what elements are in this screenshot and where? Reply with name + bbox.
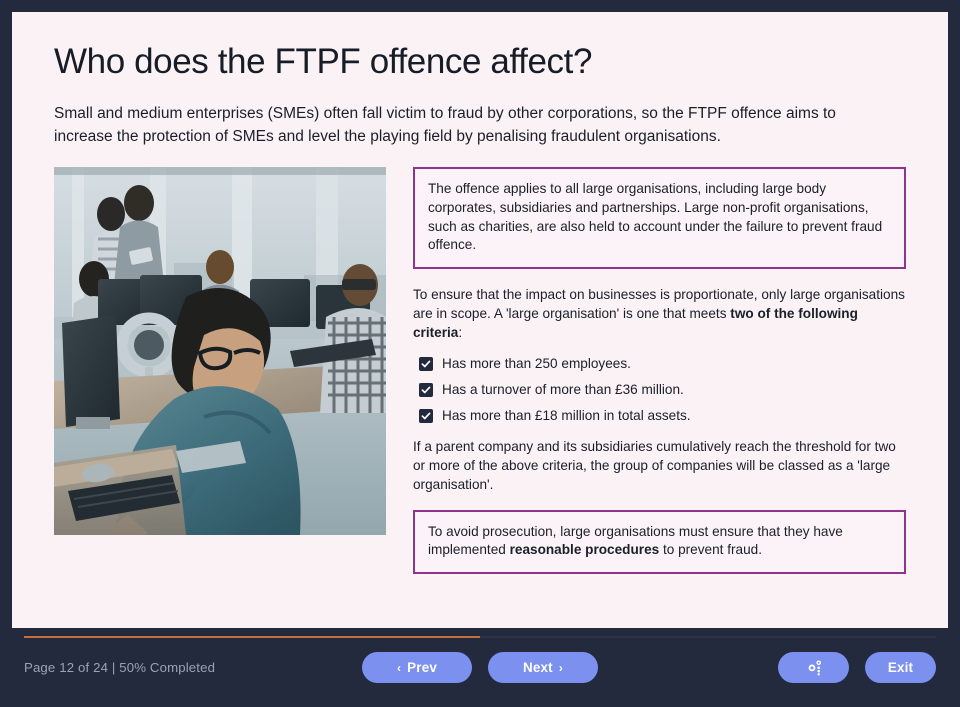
list-item: Has a turnover of more than £36 million. <box>419 381 906 399</box>
list-item-label: Has a turnover of more than £36 million. <box>442 381 684 399</box>
page-status-text: Page 12 of 24 | 50% Completed <box>24 660 215 675</box>
content-column: The offence applies to all large organis… <box>413 167 906 574</box>
prev-button-label: Prev <box>407 660 437 675</box>
next-button-label: Next <box>523 660 553 675</box>
list-item-label: Has more than 250 employees. <box>442 355 631 373</box>
media-column <box>54 167 386 535</box>
slide-panel: Who does the FTPF offence affect? Small … <box>12 12 948 628</box>
checkbox-checked-icon <box>419 357 433 371</box>
intro-paragraph: Small and medium enterprises (SMEs) ofte… <box>54 103 874 148</box>
cogs-icon <box>804 658 823 677</box>
callout-prevention-tail: to prevent fraud. <box>659 542 762 557</box>
slide-body: The offence applies to all large organis… <box>54 167 906 574</box>
nav-center-group: ‹ Prev Next › <box>362 652 598 683</box>
exit-button[interactable]: Exit <box>865 652 936 683</box>
page-title: Who does the FTPF offence affect? <box>54 42 906 81</box>
exit-button-label: Exit <box>888 660 913 675</box>
list-item: Has more than 250 employees. <box>419 355 906 373</box>
criteria-checklist: Has more than 250 employees. Has a turno… <box>419 355 906 424</box>
chevron-left-icon: ‹ <box>397 662 401 674</box>
chevron-right-icon: › <box>559 662 563 674</box>
prev-button[interactable]: ‹ Prev <box>362 652 472 683</box>
list-item-label: Has more than £18 million in total asset… <box>442 407 691 425</box>
next-button[interactable]: Next › <box>488 652 598 683</box>
office-photo <box>54 167 386 535</box>
checkbox-checked-icon <box>419 383 433 397</box>
callout-scope: The offence applies to all large organis… <box>413 167 906 269</box>
settings-button[interactable] <box>778 652 849 683</box>
callout-prevention-emphasis: reasonable procedures <box>510 542 660 557</box>
criteria-intro-tail: : <box>458 325 462 340</box>
callout-prevention: To avoid prosecution, large organisation… <box>413 510 906 575</box>
player-navbar: Page 12 of 24 | 50% Completed ‹ Prev Nex… <box>0 628 960 707</box>
parent-company-paragraph: If a parent company and its subsidiaries… <box>413 438 906 494</box>
nav-right-group: Exit <box>778 652 936 683</box>
checkbox-checked-icon <box>419 409 433 423</box>
course-player-frame: Who does the FTPF offence affect? Small … <box>0 0 960 707</box>
criteria-intro: To ensure that the impact on businesses … <box>413 286 906 342</box>
list-item: Has more than £18 million in total asset… <box>419 407 906 425</box>
